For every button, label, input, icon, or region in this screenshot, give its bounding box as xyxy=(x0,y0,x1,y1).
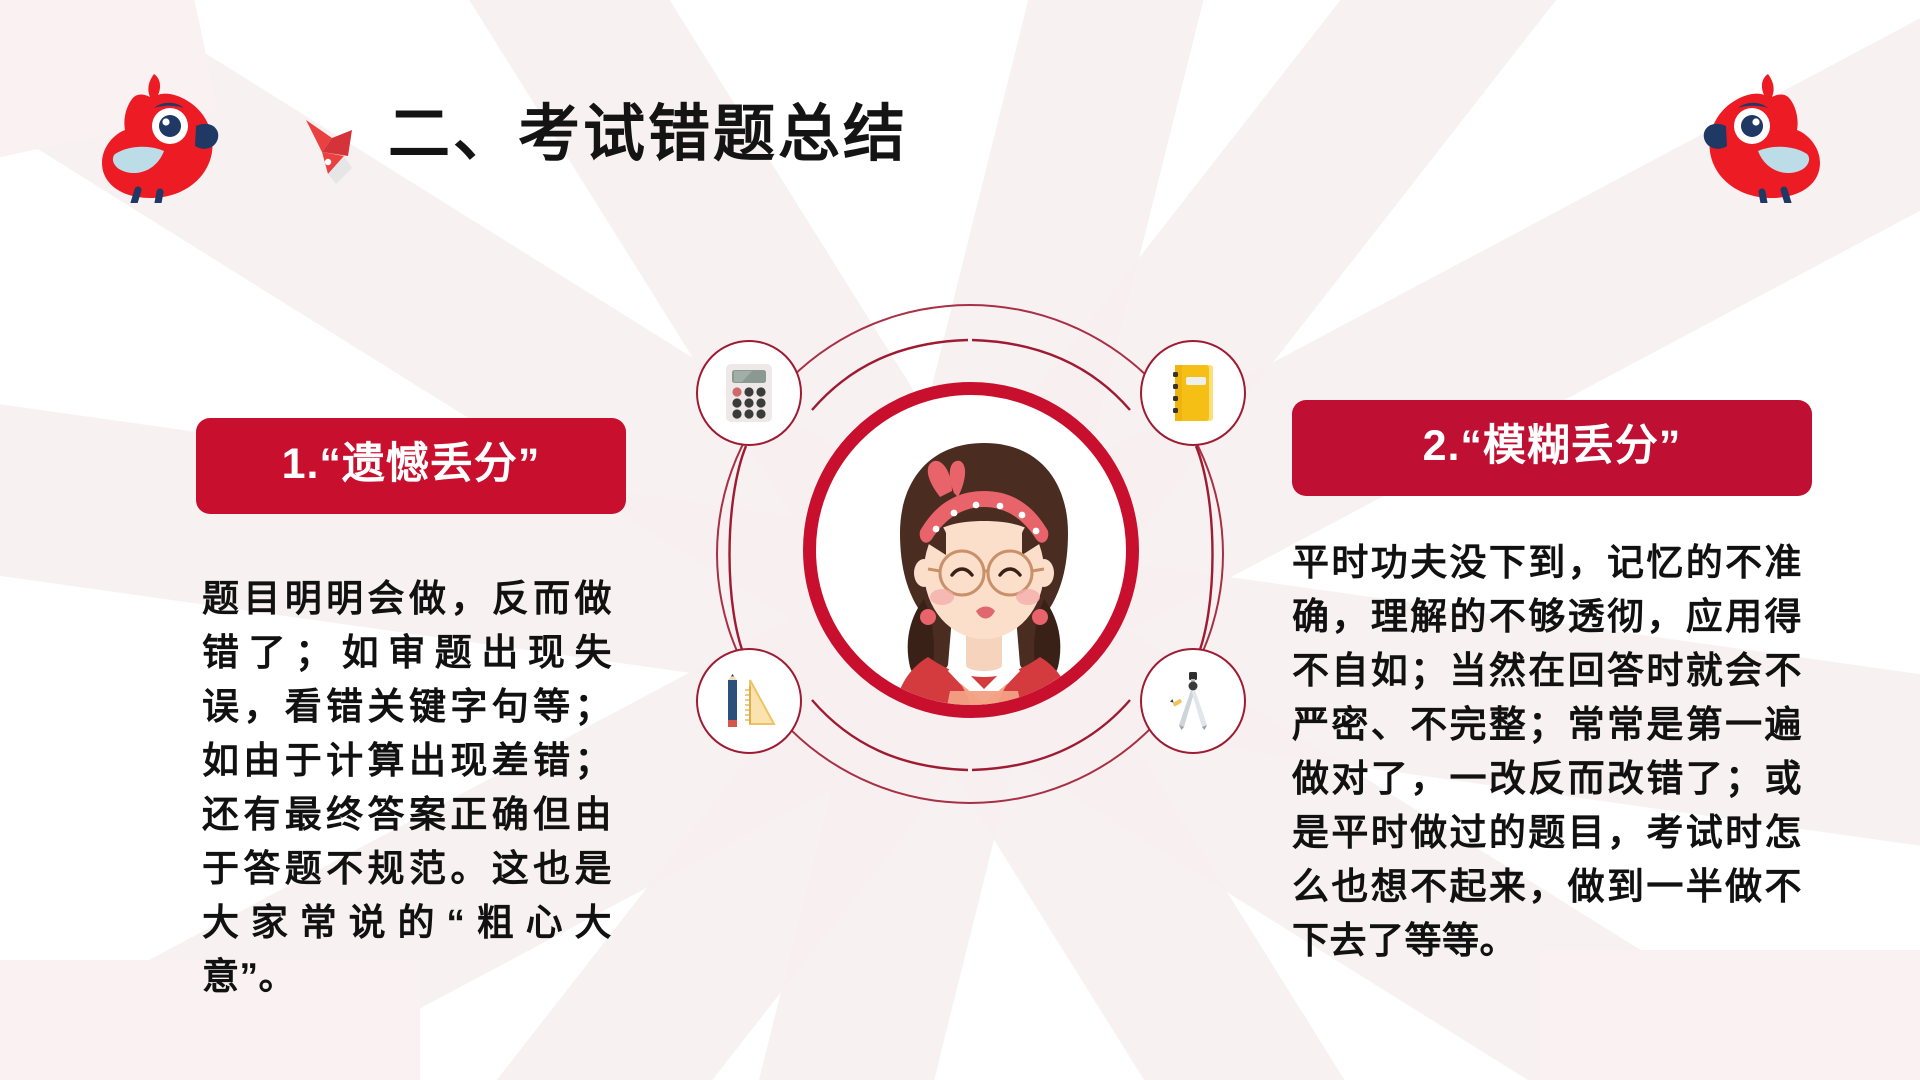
slide-header: 二、考试错题总结 xyxy=(0,0,1920,230)
slide-root: 二、考试错题总结 xyxy=(0,0,1920,1080)
corner-wash-bottomright xyxy=(1540,950,1920,1080)
body-text-right: 平时功夫没下到，记忆的不准确，理解的不够透彻，应用得不自如；当然在回答时就会不严… xyxy=(1292,536,1802,968)
badge-left[interactable]: 1.“遗憾丢分” xyxy=(196,418,626,514)
parrot-mascot-icon xyxy=(1700,68,1830,203)
center-illustration xyxy=(700,300,1240,810)
notebook-icon xyxy=(1140,340,1246,446)
portrait-frame xyxy=(803,382,1139,718)
page-title: 二、考试错题总结 xyxy=(388,104,908,166)
body-text-left: 题目明明会做，反而做错了；如审题出现失误，看错关键字句等；如由于计算出现差错；还… xyxy=(202,572,612,1004)
badge-right[interactable]: 2.“模糊丢分” xyxy=(1292,400,1812,496)
pushpin-icon xyxy=(292,108,372,188)
parrot-mascot-icon xyxy=(92,68,222,203)
ruler-pencil-icon xyxy=(696,648,802,754)
girl-student-illustration xyxy=(824,421,1139,718)
panel-left: 1.“遗憾丢分” 题目明明会做，反而做错了；如审题出现失误，看错关键字句等；如由… xyxy=(196,418,636,1004)
panel-right: 2.“模糊丢分” 平时功夫没下到，记忆的不准确，理解的不够透彻，应用得不自如；当… xyxy=(1292,400,1812,968)
compass-icon xyxy=(1140,648,1246,754)
calculator-icon xyxy=(696,340,802,446)
